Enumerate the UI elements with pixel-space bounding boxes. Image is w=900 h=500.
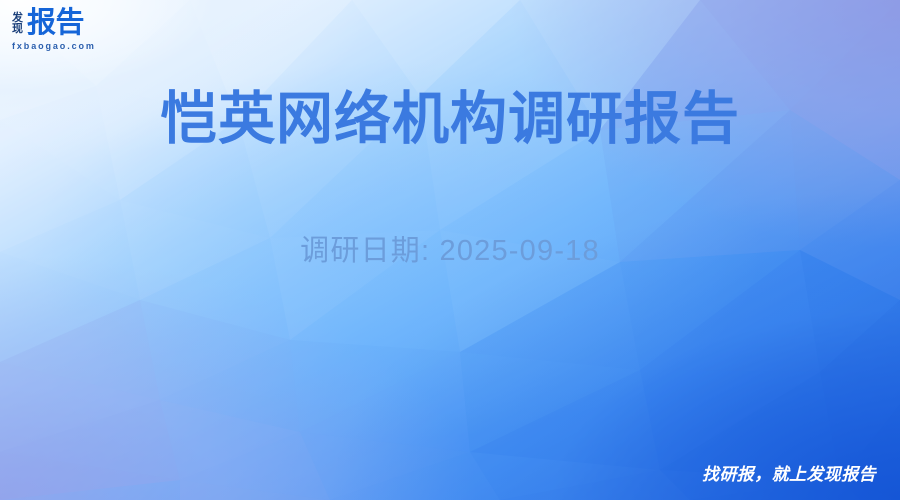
survey-date-text: 调研日期: 2025-09-18 [0,232,900,270]
page-title: 恺英网络机构调研报告 [0,86,900,152]
footer-slogan: 找研报，就上发现报告 [702,464,876,486]
brand-logo-row: 发 现 报告 [12,9,96,38]
brand-logo-mark: 发 现 [12,12,23,35]
brand-logo-inner: 发 现 报告 fxbaogao.com [12,9,96,51]
brand-logo-mark-bottom: 现 [12,24,23,35]
cover-subtitle-block: 调研日期: 2025-09-18 [0,232,900,270]
brand-logo[interactable]: 发 现 报告 fxbaogao.com [12,9,96,51]
brand-logo-url: fxbaogao.com [12,41,96,51]
brand-logo-wordmark: 报告 [27,9,84,38]
cover-title-block: 恺英网络机构调研报告 [0,86,900,152]
report-cover-slide: 发 现 报告 fxbaogao.com 恺英网络机构调研报告 调研日期: 202… [0,0,900,500]
